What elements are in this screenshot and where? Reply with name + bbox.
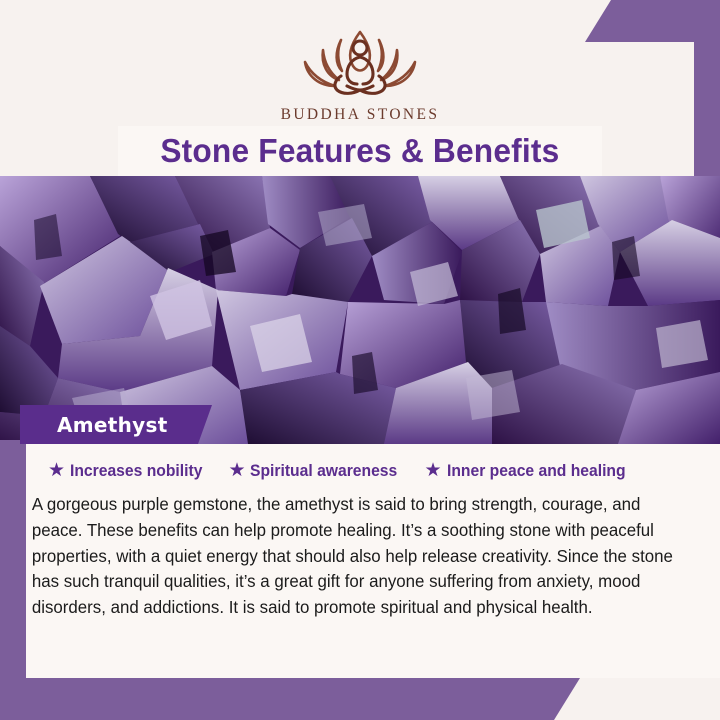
lotus-meditation-icon: [285, 24, 435, 102]
page-title: Stone Features & Benefits: [160, 132, 559, 170]
stone-description: A gorgeous purple gemstone, the amethyst…: [26, 492, 699, 621]
details-panel: ★ Increases nobility ★ Spiritual awarene…: [26, 444, 720, 678]
feature-item-increases-nobility: ★ Increases nobility: [48, 462, 209, 481]
product-info-card: BUDDHA STONES Stone Features & Benefits …: [0, 0, 720, 720]
feature-label: Increases nobility: [70, 462, 202, 481]
crystal-cluster-illustration: [0, 176, 720, 444]
amethyst-hero-image: [0, 176, 720, 444]
frame-accent-left: [0, 440, 26, 720]
star-icon: ★: [48, 461, 65, 480]
stone-name-ribbon: Amethyst: [20, 405, 212, 444]
feature-list: ★ Increases nobility ★ Spiritual awarene…: [26, 444, 720, 481]
feature-item-inner-peace-and-healing: ★ Inner peace and healing: [424, 462, 634, 481]
feature-label: Inner peace and healing: [447, 462, 626, 481]
star-icon: ★: [228, 461, 245, 480]
stone-name-label: Amethyst: [20, 413, 168, 437]
page-title-band: Stone Features & Benefits: [118, 126, 602, 176]
feature-item-spiritual-awareness: ★ Spiritual awareness: [228, 462, 405, 481]
frame-accent-right: [694, 0, 720, 176]
star-icon: ★: [424, 461, 441, 480]
feature-label: Spiritual awareness: [250, 462, 397, 481]
brand-name: BUDDHA STONES: [281, 106, 440, 124]
frame-accent-bottom-left: [0, 678, 580, 720]
